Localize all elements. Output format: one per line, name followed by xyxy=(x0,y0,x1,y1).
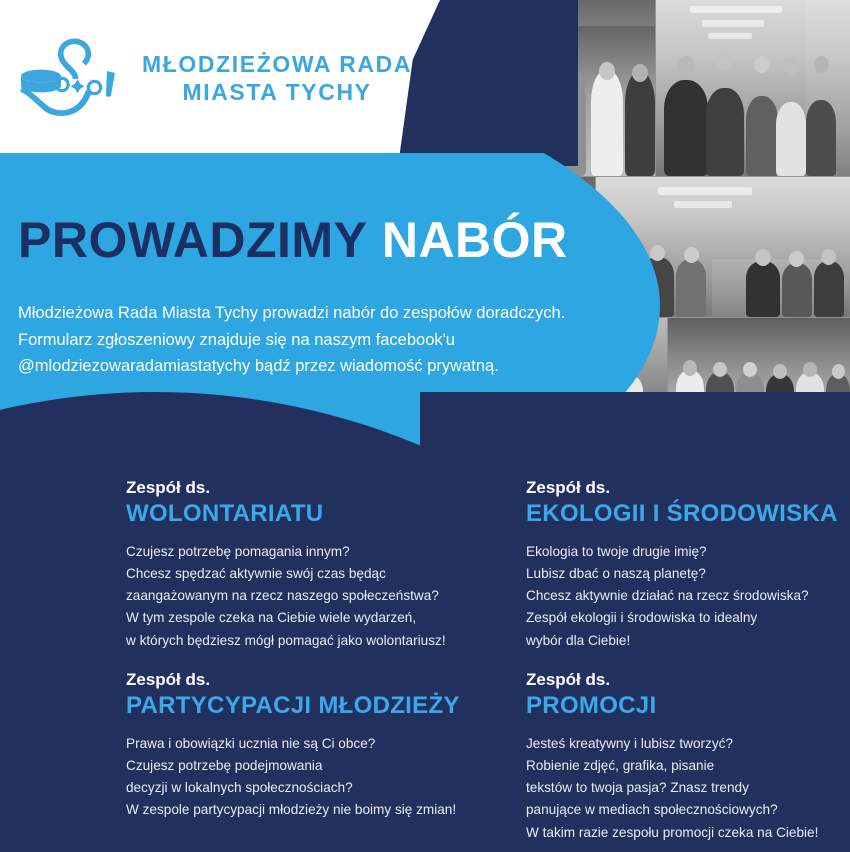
team-line: Chcesz aktywnie działać na rzecz środowi… xyxy=(526,585,850,607)
hero-description: Młodzieżowa Rada Miasta Tychy prowadzi n… xyxy=(18,300,628,380)
team-description: Czujesz potrzebę pomagania innym? Chcesz… xyxy=(126,541,518,652)
headline-part-1: PROWADZIMY xyxy=(18,212,367,268)
team-card-partycypacja: Zespół ds. PARTYCYPACJI MŁODZIEŻY Prawa … xyxy=(126,670,526,852)
team-line: tekstów to twoja pasja? Znasz trendy xyxy=(526,777,850,799)
page-title: PROWADZIMY NABÓR xyxy=(18,211,568,269)
team-line: w których będziesz mógł pomagać jako wol… xyxy=(126,630,518,652)
organization-logo: MŁODZIEŻOWA RADA MIASTA TYCHY xyxy=(16,28,416,128)
team-description: Prawa i obowiązki ucznia nie są Ci obce?… xyxy=(126,733,518,822)
team-name: PARTYCYPACJI MŁODZIEŻY xyxy=(126,692,518,720)
org-name-line-1: MŁODZIEŻOWA RADA xyxy=(142,50,412,78)
teams-grid: Zespół ds. WOLONTARIATU Czujesz potrzebę… xyxy=(0,478,850,852)
team-description: Jesteś kreatywny i lubisz tworzyć? Robie… xyxy=(526,733,850,844)
team-line: zaangażowanym na rzecz naszego społeczeń… xyxy=(126,585,518,607)
team-line: Czujesz potrzebę podejmowania xyxy=(126,755,518,777)
recruitment-poster: MŁODZIEŻOWA RADA MIASTA TYCHY PROWADZIMY… xyxy=(0,0,850,852)
team-name: PROMOCJI xyxy=(526,692,850,720)
team-card-promocja: Zespół ds. PROMOCJI Jesteś kreatywny i l… xyxy=(526,670,850,852)
team-line: W tym zespole czeka na Ciebie wiele wyda… xyxy=(126,607,518,629)
team-prefix: Zespół ds. xyxy=(526,478,850,498)
organization-name: MŁODZIEŻOWA RADA MIASTA TYCHY xyxy=(142,50,412,106)
hero-description-line-2: Formularz zgłoszeniowy znajduje się na n… xyxy=(18,327,628,354)
team-line: Czujesz potrzebę pomagania innym? xyxy=(126,541,518,563)
collage-photo xyxy=(656,0,850,176)
hero-description-line-3: @mlodziezowaradamiastatychy bądź przez w… xyxy=(18,353,628,380)
team-line: Prawa i obowiązki ucznia nie są Ci obce? xyxy=(126,733,518,755)
headline-part-2: NABÓR xyxy=(382,212,568,268)
team-line: wybór dla Ciebie! xyxy=(526,630,850,652)
team-line: Lubisz dbać o naszą planetę? xyxy=(526,563,850,585)
team-card-ekologia: Zespół ds. EKOLOGII I ŚRODOWISKA Ekologi… xyxy=(526,478,850,670)
team-prefix: Zespół ds. xyxy=(126,478,518,498)
team-line: Jesteś kreatywny i lubisz tworzyć? xyxy=(526,733,850,755)
team-line: W zespole partycypacji młodzieży nie boi… xyxy=(126,799,518,821)
team-description: Ekologia to twoje drugie imię? Lubisz db… xyxy=(526,541,850,652)
team-prefix: Zespół ds. xyxy=(526,670,850,690)
team-line: Robienie zdjęć, grafika, pisanie xyxy=(526,755,850,777)
team-line: decyzji w lokalnych społecznościach? xyxy=(126,777,518,799)
team-line: Ekologia to twoje drugie imię? xyxy=(526,541,850,563)
team-name: WOLONTARIATU xyxy=(126,500,518,528)
team-line: Chcesz spędzać aktywnie swój czas będąc xyxy=(126,563,518,585)
team-line: W takim razie zespołu promocji czeka na … xyxy=(526,822,850,844)
mrmt-wave-logo-icon xyxy=(16,35,128,121)
team-line: panujące w mediach społecznościowych? xyxy=(526,799,850,821)
org-name-line-2: MIASTA TYCHY xyxy=(142,78,412,106)
team-name: EKOLOGII I ŚRODOWISKA xyxy=(526,500,850,528)
team-prefix: Zespół ds. xyxy=(126,670,518,690)
team-line: Zespół ekologii i środowiska to idealny xyxy=(526,607,850,629)
hero-description-line-1: Młodzieżowa Rada Miasta Tychy prowadzi n… xyxy=(18,300,628,327)
team-card-wolontariat: Zespół ds. WOLONTARIATU Czujesz potrzebę… xyxy=(126,478,526,670)
